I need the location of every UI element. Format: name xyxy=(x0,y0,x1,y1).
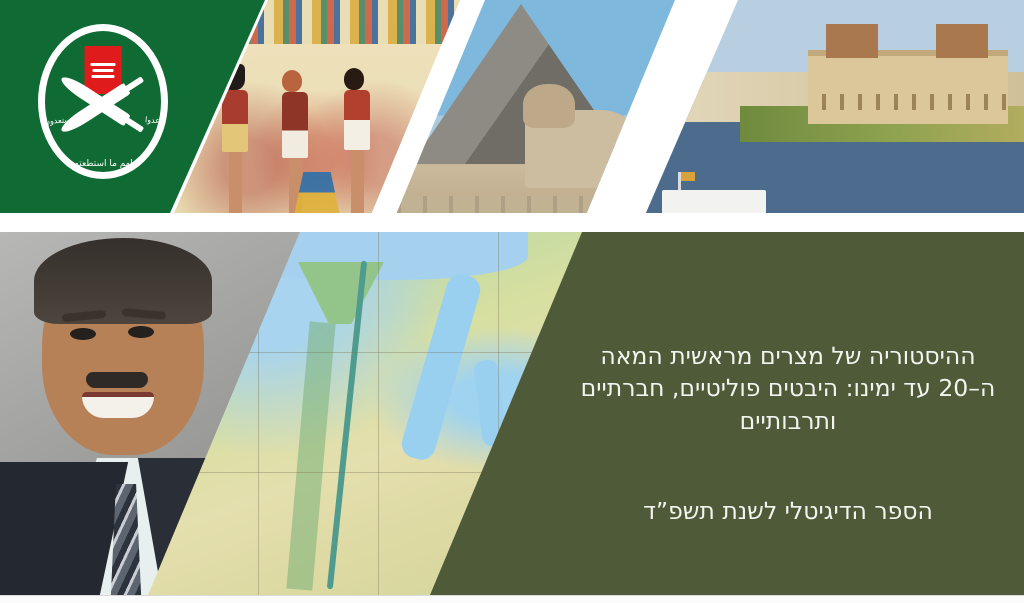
fortress-shape xyxy=(808,50,1008,124)
emblem-arabic-right: وأعدوا xyxy=(145,115,167,125)
emblem-arabic-bottom: لهم ما استطعتم xyxy=(73,159,132,169)
muslim-brotherhood-emblem-icon: وأعدوا مستعدون لهم ما استطعتم xyxy=(38,24,168,179)
nile-delta xyxy=(298,262,384,324)
horizontal-divider xyxy=(0,213,1024,234)
portrait-mustache xyxy=(86,372,148,388)
sphinx-shape xyxy=(525,110,645,188)
book-cover: وأعدوا مستعدون لهم ما استطعتم xyxy=(0,0,1024,603)
top-image-strip: وأعدوا مستعدون لهم ما استطعتم xyxy=(0,0,1024,222)
anubis-figure xyxy=(222,64,248,222)
portrait-eye-right xyxy=(128,326,154,338)
boat-icon xyxy=(662,190,766,214)
map-gridline xyxy=(378,232,379,595)
red-sea xyxy=(398,271,483,463)
portrait-eye-left xyxy=(70,328,96,340)
portrait-smile xyxy=(82,392,154,418)
bottom-edge-strip xyxy=(0,595,1024,603)
cover-text-block: ההיסטוריה של מצרים מראשית המאה ה–20 עד י… xyxy=(578,340,998,528)
nile-panel xyxy=(600,0,1024,222)
nile-green-belt xyxy=(286,321,335,590)
cover-title: ההיסטוריה של מצרים מראשית המאה ה–20 עד י… xyxy=(578,340,998,437)
bottom-content-strip: ההיסטוריה של מצרים מראשית המאה ה–20 עד י… xyxy=(0,232,1024,595)
queen-figure xyxy=(344,68,370,222)
cover-subtitle: הספר הדיגיטלי לשנת תשפ”ד xyxy=(578,495,998,527)
